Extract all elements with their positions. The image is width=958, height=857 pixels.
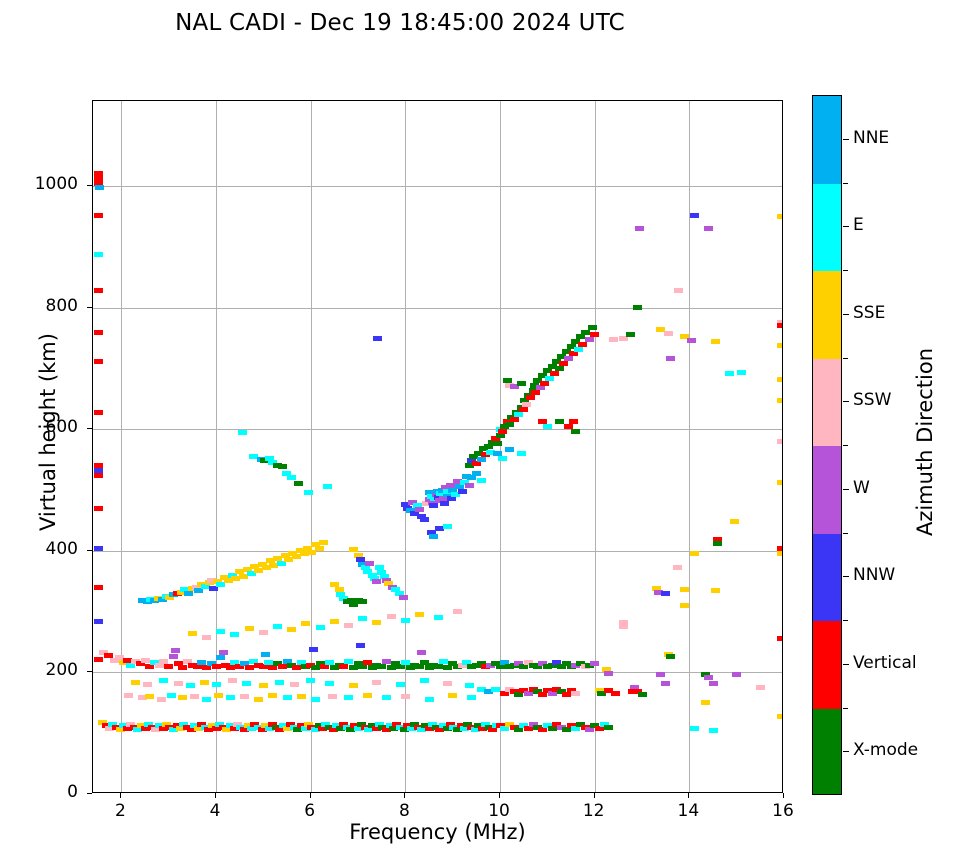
echo-point — [777, 343, 783, 348]
echo-point — [559, 361, 568, 366]
echo-point — [311, 697, 320, 702]
echo-point — [704, 675, 713, 680]
colorbar-tick-mark — [843, 576, 849, 577]
echo-point — [194, 588, 203, 593]
echo-point — [94, 252, 103, 257]
echo-point — [656, 672, 665, 677]
echo-point — [344, 659, 353, 664]
echo-point — [273, 624, 282, 629]
echo-point — [604, 671, 613, 676]
echo-point — [143, 682, 152, 687]
echo-point — [174, 681, 183, 686]
echo-point — [443, 524, 452, 529]
echo-point — [633, 305, 642, 310]
echo-point — [259, 630, 268, 635]
echo-point — [292, 665, 301, 670]
echo-point — [94, 288, 103, 293]
echo-point — [242, 681, 251, 686]
echo-point — [777, 439, 783, 444]
echo-point — [711, 588, 720, 593]
echo-point — [711, 339, 720, 344]
echo-point — [709, 728, 718, 733]
echo-point — [472, 471, 481, 476]
echo-point — [226, 665, 235, 670]
colorbar-boundary-tick — [843, 270, 848, 271]
echo-point — [519, 407, 528, 412]
ionogram-figure: NAL CADI - Dec 19 18:45:00 2024 UTC 2468… — [0, 0, 958, 857]
colorbar-label-e: E — [853, 215, 864, 235]
echo-point — [498, 456, 507, 461]
echo-point — [439, 659, 448, 664]
gridline-vertical — [311, 101, 312, 792]
colorbar-tick-mark — [843, 139, 849, 140]
echo-point — [581, 330, 590, 335]
colorbar-segment-nne[interactable] — [813, 96, 841, 184]
colorbar-label-x-mode: X-mode — [853, 740, 918, 760]
echo-point — [777, 714, 783, 719]
echo-point — [216, 655, 225, 660]
echo-point — [477, 457, 486, 462]
echo-point — [467, 695, 476, 700]
echo-point — [604, 688, 613, 693]
echo-point — [287, 475, 296, 480]
echo-point — [212, 664, 221, 669]
echo-point — [574, 347, 583, 352]
colorbar-label-w: W — [853, 478, 870, 498]
echo-point — [382, 659, 391, 664]
echo-point — [94, 473, 103, 478]
echo-point — [737, 370, 746, 375]
colorbar-boundary-tick — [843, 445, 848, 446]
echo-point — [777, 551, 783, 556]
echo-point — [434, 664, 443, 669]
echo-point — [94, 506, 103, 511]
y-axis-title: Virtual height (km) — [36, 292, 60, 572]
echo-point — [429, 503, 438, 508]
echo-point — [94, 359, 103, 364]
echo-point — [214, 693, 223, 698]
echo-point — [531, 390, 540, 395]
echo-point — [171, 648, 180, 653]
echo-point — [540, 381, 549, 386]
echo-point — [94, 330, 103, 335]
colorbar-tick-mark — [843, 226, 849, 227]
echo-point — [661, 591, 670, 596]
echo-point — [141, 658, 150, 663]
y-tick-label: 1000 — [18, 174, 78, 194]
echo-point — [212, 682, 221, 687]
echo-point — [283, 695, 292, 700]
colorbar-tick-mark — [843, 401, 849, 402]
x-tick-label: 16 — [753, 801, 813, 821]
echo-point — [339, 664, 348, 669]
colorbar-label-vertical: Vertical — [853, 653, 917, 673]
echo-point — [278, 664, 287, 669]
x-tick-label: 2 — [90, 801, 150, 821]
x-tick-mark — [783, 793, 784, 798]
gridline-horizontal — [93, 186, 782, 187]
colorbar-segment-x-mode[interactable] — [813, 709, 841, 796]
x-tick-label: 10 — [469, 801, 529, 821]
colorbar-boundary-tick — [843, 358, 848, 359]
echo-point — [157, 697, 166, 702]
colorbar-tick-mark — [843, 314, 849, 315]
echo-point — [145, 694, 154, 699]
echo-point — [505, 447, 514, 452]
y-tick-mark — [87, 671, 92, 672]
echo-point — [585, 337, 594, 342]
echo-point — [278, 464, 287, 469]
x-tick-label: 14 — [658, 801, 718, 821]
echo-point — [94, 585, 103, 590]
echo-point — [590, 332, 599, 337]
echo-point — [124, 693, 133, 698]
echo-point — [159, 678, 168, 683]
echo-point — [186, 683, 195, 688]
echo-point — [363, 693, 372, 698]
colorbar-segment-w[interactable] — [813, 446, 841, 534]
echo-point — [701, 700, 710, 705]
echo-point — [493, 441, 502, 446]
echo-point — [216, 582, 225, 587]
colorbar-tick-mark — [843, 664, 849, 665]
gridline-horizontal — [93, 429, 782, 430]
echo-point — [396, 682, 405, 687]
echo-point — [94, 213, 103, 218]
y-tick-mark — [87, 428, 92, 429]
y-tick-mark — [87, 185, 92, 186]
colorbar-segment-sse[interactable] — [813, 271, 841, 359]
echo-point — [216, 629, 225, 634]
x-tick-label: 6 — [280, 801, 340, 821]
echo-point — [690, 551, 699, 556]
echo-point — [382, 695, 391, 700]
echo-point — [316, 625, 325, 630]
colorbar[interactable] — [812, 95, 842, 795]
echo-point — [319, 540, 328, 545]
echo-point — [777, 480, 783, 485]
echo-point — [569, 419, 578, 424]
colorbar-label-nnw: NNW — [853, 565, 895, 585]
echo-point — [287, 627, 296, 632]
echo-point — [344, 695, 353, 700]
echo-point — [349, 547, 358, 552]
y-tick-mark — [87, 550, 92, 551]
echo-point — [202, 697, 211, 702]
echo-point — [373, 336, 382, 341]
echo-point — [294, 481, 303, 486]
echo-point — [94, 410, 103, 415]
colorbar-segment-e[interactable] — [813, 184, 841, 272]
echo-point — [545, 376, 554, 381]
echo-point — [297, 694, 306, 699]
y-tick-label: 200 — [18, 660, 78, 680]
echo-point — [420, 678, 429, 683]
echo-point — [661, 681, 670, 686]
echo-point — [638, 692, 647, 697]
echo-point — [240, 694, 249, 699]
x-tick-mark — [215, 793, 216, 798]
echo-point — [777, 636, 783, 641]
echo-point — [555, 366, 564, 371]
echo-point — [230, 632, 239, 637]
echo-point — [756, 685, 765, 690]
echo-point — [571, 429, 580, 434]
echo-point — [680, 587, 689, 592]
echo-point — [725, 371, 734, 376]
echo-point — [226, 695, 235, 700]
colorbar-label-nne: NNE — [853, 128, 889, 148]
echo-point — [304, 490, 313, 495]
echo-point — [467, 475, 476, 480]
echo-point — [604, 725, 613, 730]
echo-point — [505, 422, 514, 427]
echo-point — [730, 519, 739, 524]
colorbar-tick-mark — [843, 751, 849, 752]
echo-point — [219, 650, 228, 655]
x-tick-mark — [120, 793, 121, 798]
echo-point — [666, 356, 675, 361]
x-tick-mark — [688, 793, 689, 798]
echo-point — [415, 507, 424, 512]
x-tick-mark — [404, 793, 405, 798]
echo-point — [315, 546, 324, 551]
echo-point — [330, 619, 339, 624]
echo-point — [609, 337, 618, 342]
y-tick-mark — [87, 793, 92, 794]
echo-point — [777, 214, 783, 219]
echo-point — [259, 683, 268, 688]
echo-point — [453, 609, 462, 614]
echo-point — [415, 612, 424, 617]
echo-point — [477, 478, 486, 483]
echo-point — [619, 624, 628, 629]
figure-title: NAL CADI - Dec 19 18:45:00 2024 UTC — [0, 10, 800, 36]
gridline-vertical — [121, 101, 122, 792]
x-tick-mark — [499, 793, 500, 798]
colorbar-tick-mark — [843, 489, 849, 490]
gridline-vertical — [216, 101, 217, 792]
echo-point — [440, 501, 449, 506]
echo-point — [184, 591, 193, 596]
gridline-vertical — [500, 101, 501, 792]
echo-point — [95, 185, 104, 190]
colorbar-segment-ssw[interactable] — [813, 359, 841, 447]
echo-point — [188, 631, 197, 636]
x-tick-mark — [594, 793, 595, 798]
echo-point — [94, 546, 103, 551]
echo-point — [190, 694, 199, 699]
gridline-vertical — [405, 101, 406, 792]
echo-point — [417, 650, 426, 655]
colorbar-label-sse: SSE — [853, 303, 885, 323]
echo-point — [344, 623, 353, 628]
echo-point — [178, 695, 187, 700]
echo-point — [664, 331, 673, 336]
echo-point — [443, 681, 452, 686]
echo-point — [674, 288, 683, 293]
echo-point — [200, 680, 209, 685]
echo-point — [458, 489, 467, 494]
plot-area[interactable] — [92, 100, 783, 793]
echo-point — [588, 325, 597, 330]
x-tick-label: 8 — [374, 801, 434, 821]
x-tick-label: 12 — [564, 801, 624, 821]
echo-point — [564, 356, 573, 361]
echo-point — [399, 595, 408, 600]
echo-point — [169, 654, 178, 659]
echo-point — [571, 691, 580, 696]
colorbar-boundary-tick — [843, 708, 848, 709]
echo-point — [387, 614, 396, 619]
colorbar-boundary-tick — [843, 183, 848, 184]
echo-point — [555, 419, 564, 424]
echo-point — [777, 377, 783, 382]
echo-point — [517, 381, 526, 386]
colorbar-boundary-tick — [843, 533, 848, 534]
echo-point — [429, 534, 438, 539]
echo-point — [372, 680, 381, 685]
echo-point — [569, 351, 578, 356]
echo-point — [448, 693, 457, 698]
echo-point — [261, 652, 270, 657]
echo-point — [635, 226, 644, 231]
colorbar-title: Azimuth Direction — [913, 302, 937, 582]
echo-point — [131, 680, 140, 685]
echo-point — [666, 654, 675, 659]
echo-point — [517, 451, 526, 456]
x-tick-mark — [310, 793, 311, 798]
echo-point — [268, 693, 277, 698]
x-axis-title: Frequency (MHz) — [92, 820, 783, 844]
echo-point — [358, 616, 367, 621]
echo-point — [164, 664, 173, 669]
echo-point — [238, 430, 247, 435]
echo-point — [434, 615, 443, 620]
echo-point — [358, 599, 367, 604]
gridline-horizontal — [93, 551, 782, 552]
echo-point — [245, 665, 254, 670]
echo-point — [328, 694, 337, 699]
echo-point — [536, 385, 545, 390]
echo-point — [94, 657, 103, 662]
echo-point — [290, 682, 299, 687]
echo-point — [514, 412, 523, 417]
echo-point — [228, 678, 237, 683]
echo-point — [732, 672, 741, 677]
echo-point — [498, 429, 507, 434]
echo-point — [178, 665, 187, 670]
x-tick-label: 4 — [185, 801, 245, 821]
y-tick-mark — [87, 307, 92, 308]
echo-point — [356, 643, 365, 648]
echo-point — [777, 398, 783, 403]
colorbar-label-ssw: SSW — [853, 390, 891, 410]
colorbar-boundary-tick — [843, 620, 848, 621]
echo-point — [526, 395, 535, 400]
echo-point — [550, 371, 559, 376]
echo-point — [245, 626, 254, 631]
echo-point — [377, 664, 386, 669]
echo-point — [709, 681, 718, 686]
echo-point — [777, 323, 783, 328]
echo-point — [690, 213, 699, 218]
echo-point — [425, 697, 434, 702]
echo-point — [704, 226, 713, 231]
echo-point — [465, 683, 474, 688]
echo-point — [306, 678, 315, 683]
echo-point — [372, 579, 381, 584]
echo-point — [690, 726, 699, 731]
echo-point — [323, 484, 332, 489]
echo-point — [680, 603, 689, 608]
gridline-vertical — [689, 101, 690, 792]
echo-point — [309, 647, 318, 652]
echo-point — [325, 681, 334, 686]
echo-point — [673, 565, 682, 570]
echo-point — [510, 417, 519, 422]
echo-point — [254, 697, 263, 702]
echo-point — [578, 342, 587, 347]
echo-point — [576, 334, 585, 339]
echo-point — [349, 683, 358, 688]
y-tick-label: 0 — [18, 782, 78, 802]
echo-point — [372, 620, 381, 625]
gridline-horizontal — [93, 672, 782, 673]
echo-point — [167, 693, 176, 698]
echo-point — [491, 687, 500, 692]
echo-point — [590, 661, 599, 666]
echo-point — [94, 619, 103, 624]
echo-point — [713, 541, 722, 546]
echo-point — [626, 332, 635, 337]
gridline-horizontal — [93, 308, 782, 309]
colorbar-segment-nnw[interactable] — [813, 534, 841, 622]
echo-point — [543, 424, 552, 429]
echo-point — [420, 517, 429, 522]
echo-point — [522, 402, 531, 407]
echo-point — [465, 483, 474, 488]
echo-point — [275, 680, 284, 685]
echo-point — [301, 621, 310, 626]
echo-point — [365, 561, 374, 566]
echo-point — [202, 635, 211, 640]
echo-point — [401, 694, 410, 699]
echo-point — [401, 618, 410, 623]
colorbar-segment-vertical[interactable] — [813, 621, 841, 709]
echo-point — [687, 338, 696, 343]
